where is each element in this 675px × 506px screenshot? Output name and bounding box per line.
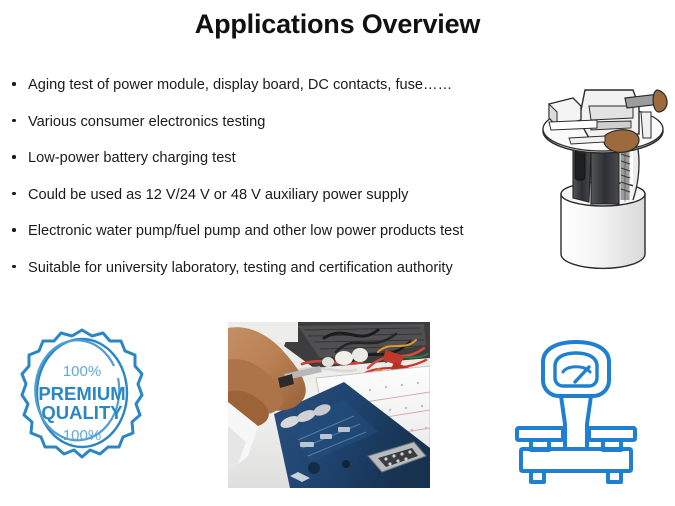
bullet-dot-icon (12, 119, 16, 123)
badge-top-percent: 100% (63, 363, 101, 380)
list-item-label: Low-power battery charging test (28, 150, 236, 166)
badge-line-1: PREMIUM (38, 383, 125, 404)
badge-line-2: QUALITY (41, 402, 123, 423)
applications-bullet-list: Aging test of power module, display boar… (9, 74, 529, 293)
list-item: Could be used as 12 V/24 V or 48 V auxil… (9, 184, 529, 221)
bullet-dot-icon (12, 192, 16, 196)
fuel-pump-module-illustration (533, 76, 673, 280)
list-item-label: Aging test of power module, display boar… (28, 77, 452, 93)
bullet-dot-icon (12, 82, 16, 86)
list-item: Aging test of power module, display boar… (9, 74, 529, 111)
bullet-dot-icon (12, 155, 16, 159)
weighing-scale-icon (505, 332, 647, 486)
page-title: Applications Overview (0, 8, 675, 40)
badge-bottom-percent: 100% (63, 427, 101, 444)
list-item: Suitable for university laboratory, test… (9, 257, 529, 294)
bullet-dot-icon (12, 228, 16, 232)
list-item: Electronic water pump/fuel pump and othe… (9, 220, 529, 257)
pcb-testing-photo (228, 322, 430, 488)
list-item-label: Various consumer electronics testing (28, 114, 265, 130)
list-item-label: Suitable for university laboratory, test… (28, 260, 453, 276)
slide-canvas: Applications Overview Aging test of powe… (0, 0, 675, 506)
list-item: Various consumer electronics testing (9, 111, 529, 148)
premium-quality-badge: 100% PREMIUM QUALITY 100% (18, 326, 146, 484)
list-item-label: Electronic water pump/fuel pump and othe… (28, 223, 464, 239)
list-item-label: Could be used as 12 V/24 V or 48 V auxil… (28, 187, 408, 203)
bullet-dot-icon (12, 265, 16, 269)
list-item: Low-power battery charging test (9, 147, 529, 184)
